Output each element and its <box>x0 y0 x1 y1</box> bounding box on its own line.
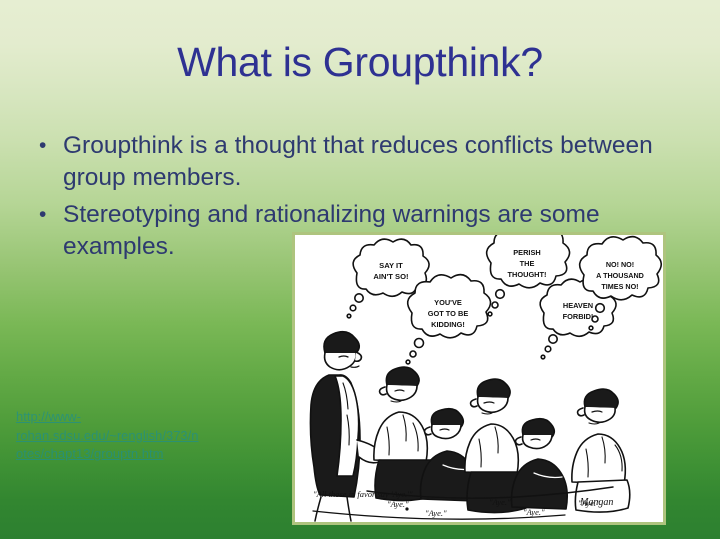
bubble-5-line-1: NO! NO! <box>606 260 634 269</box>
bullet-text: Groupthink is a thought that reduces con… <box>63 130 658 194</box>
groupthink-cartoon-image: SAY IT AIN'T SO! YOU'VE GOT TO BE KIDDIN… <box>292 232 666 525</box>
caption-main: "All those in favor say 'Aye.'" <box>313 489 413 499</box>
caption-reply-4: "Aye." <box>523 507 545 517</box>
bubble-4-line-2: FORBID! <box>563 312 594 321</box>
bubble-3-line-1: PERISH <box>513 248 541 257</box>
caption-reply-2: "Aye." <box>425 508 447 518</box>
caption-reply-5: "Aye." <box>578 498 600 508</box>
hyperlink-line-1: http://www- <box>16 408 216 427</box>
bubble-2-line-2: GOT TO BE <box>428 309 469 318</box>
caption-reply-1: "Aye." <box>387 499 409 509</box>
bubble-1-line-1: SAY IT <box>379 261 403 270</box>
bubble-1-line-2: AIN'T SO! <box>373 272 408 281</box>
bubble-5-line-2: A THOUSAND <box>596 271 644 280</box>
bubble-5-line-3: TIMES NO! <box>601 282 638 291</box>
bubble-4-line-1: HEAVEN <box>563 301 593 310</box>
list-item: • Groupthink is a thought that reduces c… <box>33 130 658 194</box>
bubble-2-line-1: YOU'VE <box>434 298 462 307</box>
page-title: What is Groupthink? <box>0 38 720 86</box>
bubble-3-line-3: THOUGHT! <box>508 270 547 279</box>
bubble-3-line-2: THE <box>520 259 535 268</box>
cartoon-illustration: SAY IT AIN'T SO! YOU'VE GOT TO BE KIDDIN… <box>295 235 663 522</box>
bullet-marker-icon: • <box>33 130 63 162</box>
hyperlink-line-2: rohan.sdsu.edu/~renglish/373/n <box>16 427 216 446</box>
hyperlink-line-3: otes/chapt13/grouptn.htm <box>16 445 216 464</box>
bullet-marker-icon: • <box>33 199 63 231</box>
source-hyperlink[interactable]: http://www- rohan.sdsu.edu/~renglish/373… <box>16 408 216 464</box>
presentation-slide: What is Groupthink? • Groupthink is a th… <box>0 0 720 539</box>
bubble-2-line-3: KIDDING! <box>431 320 465 329</box>
caption-reply-3: "Aye." <box>489 497 511 507</box>
